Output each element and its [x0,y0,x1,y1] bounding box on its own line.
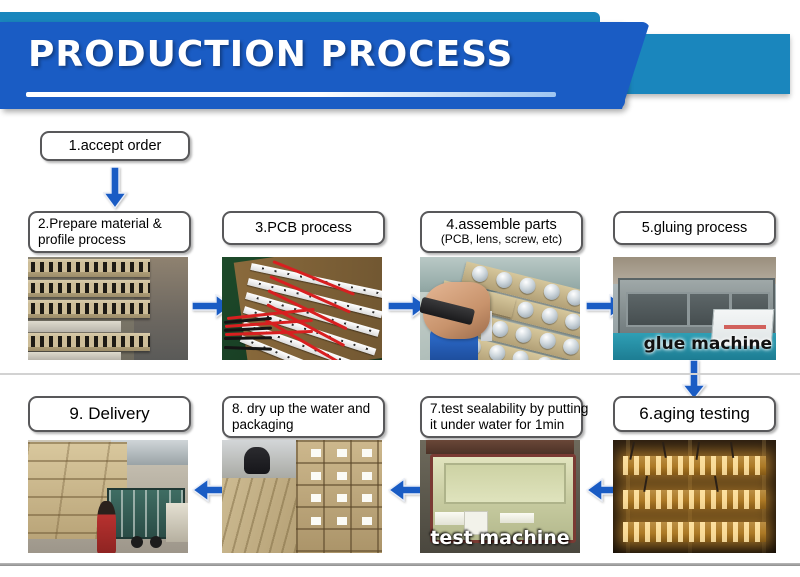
arrow-1-to-2-down-icon [103,167,127,209]
arrow-5-to-6-down-icon [682,360,706,400]
page-title: PRODUCTION PROCESS [28,34,513,75]
production-process-infographic: PRODUCTION PROCESS 1.accept order 2.Prep… [0,0,800,577]
title-underline [26,92,556,97]
step-8-label-line2: packaging [232,417,294,433]
photo-packaging [222,440,382,553]
step-4-label-line2: (PCB, lens, screw, etc) [441,233,562,247]
step-6-label: 6.aging testing [639,404,750,424]
photo-gluing-process: glue machine [613,257,776,360]
photo-test-sealability: test machine [420,440,580,553]
step-box-3: 3.PCB process [222,211,385,245]
step-3-label: 3.PCB process [255,220,352,237]
step-box-5: 5.gluing process [613,211,776,245]
header-banner: PRODUCTION PROCESS [0,12,800,112]
photo-assemble-parts [420,257,580,360]
step-2-label-line2: profile process [38,232,126,248]
step-5-label: 5.gluing process [642,220,748,237]
step-box-2: 2.Prepare material & profile process [28,211,191,253]
photo-pcb-process [222,257,382,360]
step-7-label-line1: 7.test sealability by putting [430,401,588,417]
photo-delivery [28,440,188,553]
step-8-label-line1: 8. dry up the water and [232,401,370,417]
step-2-label-line1: 2.Prepare material & [38,216,162,232]
step-box-6: 6.aging testing [613,396,776,432]
step-4-label-line1: 4.assemble parts [446,217,556,234]
row-divider [0,373,800,375]
bottom-rule [0,563,800,566]
step-box-1: 1.accept order [40,131,190,161]
test-machine-caption: test machine [430,527,569,549]
step-box-4: 4.assemble parts (PCB, lens, screw, etc) [420,211,583,253]
step-box-8: 8. dry up the water and packaging [222,396,385,438]
glue-machine-caption: glue machine [644,334,772,354]
step-9-label: 9. Delivery [69,404,149,424]
step-box-9: 9. Delivery [28,396,191,432]
step-7-label-line2: it under water for 1min [430,417,564,433]
step-box-7: 7.test sealability by putting it under w… [420,396,583,438]
step-1-label: 1.accept order [69,138,162,155]
photo-aging-testing [613,440,776,553]
photo-prepare-material [28,257,188,360]
